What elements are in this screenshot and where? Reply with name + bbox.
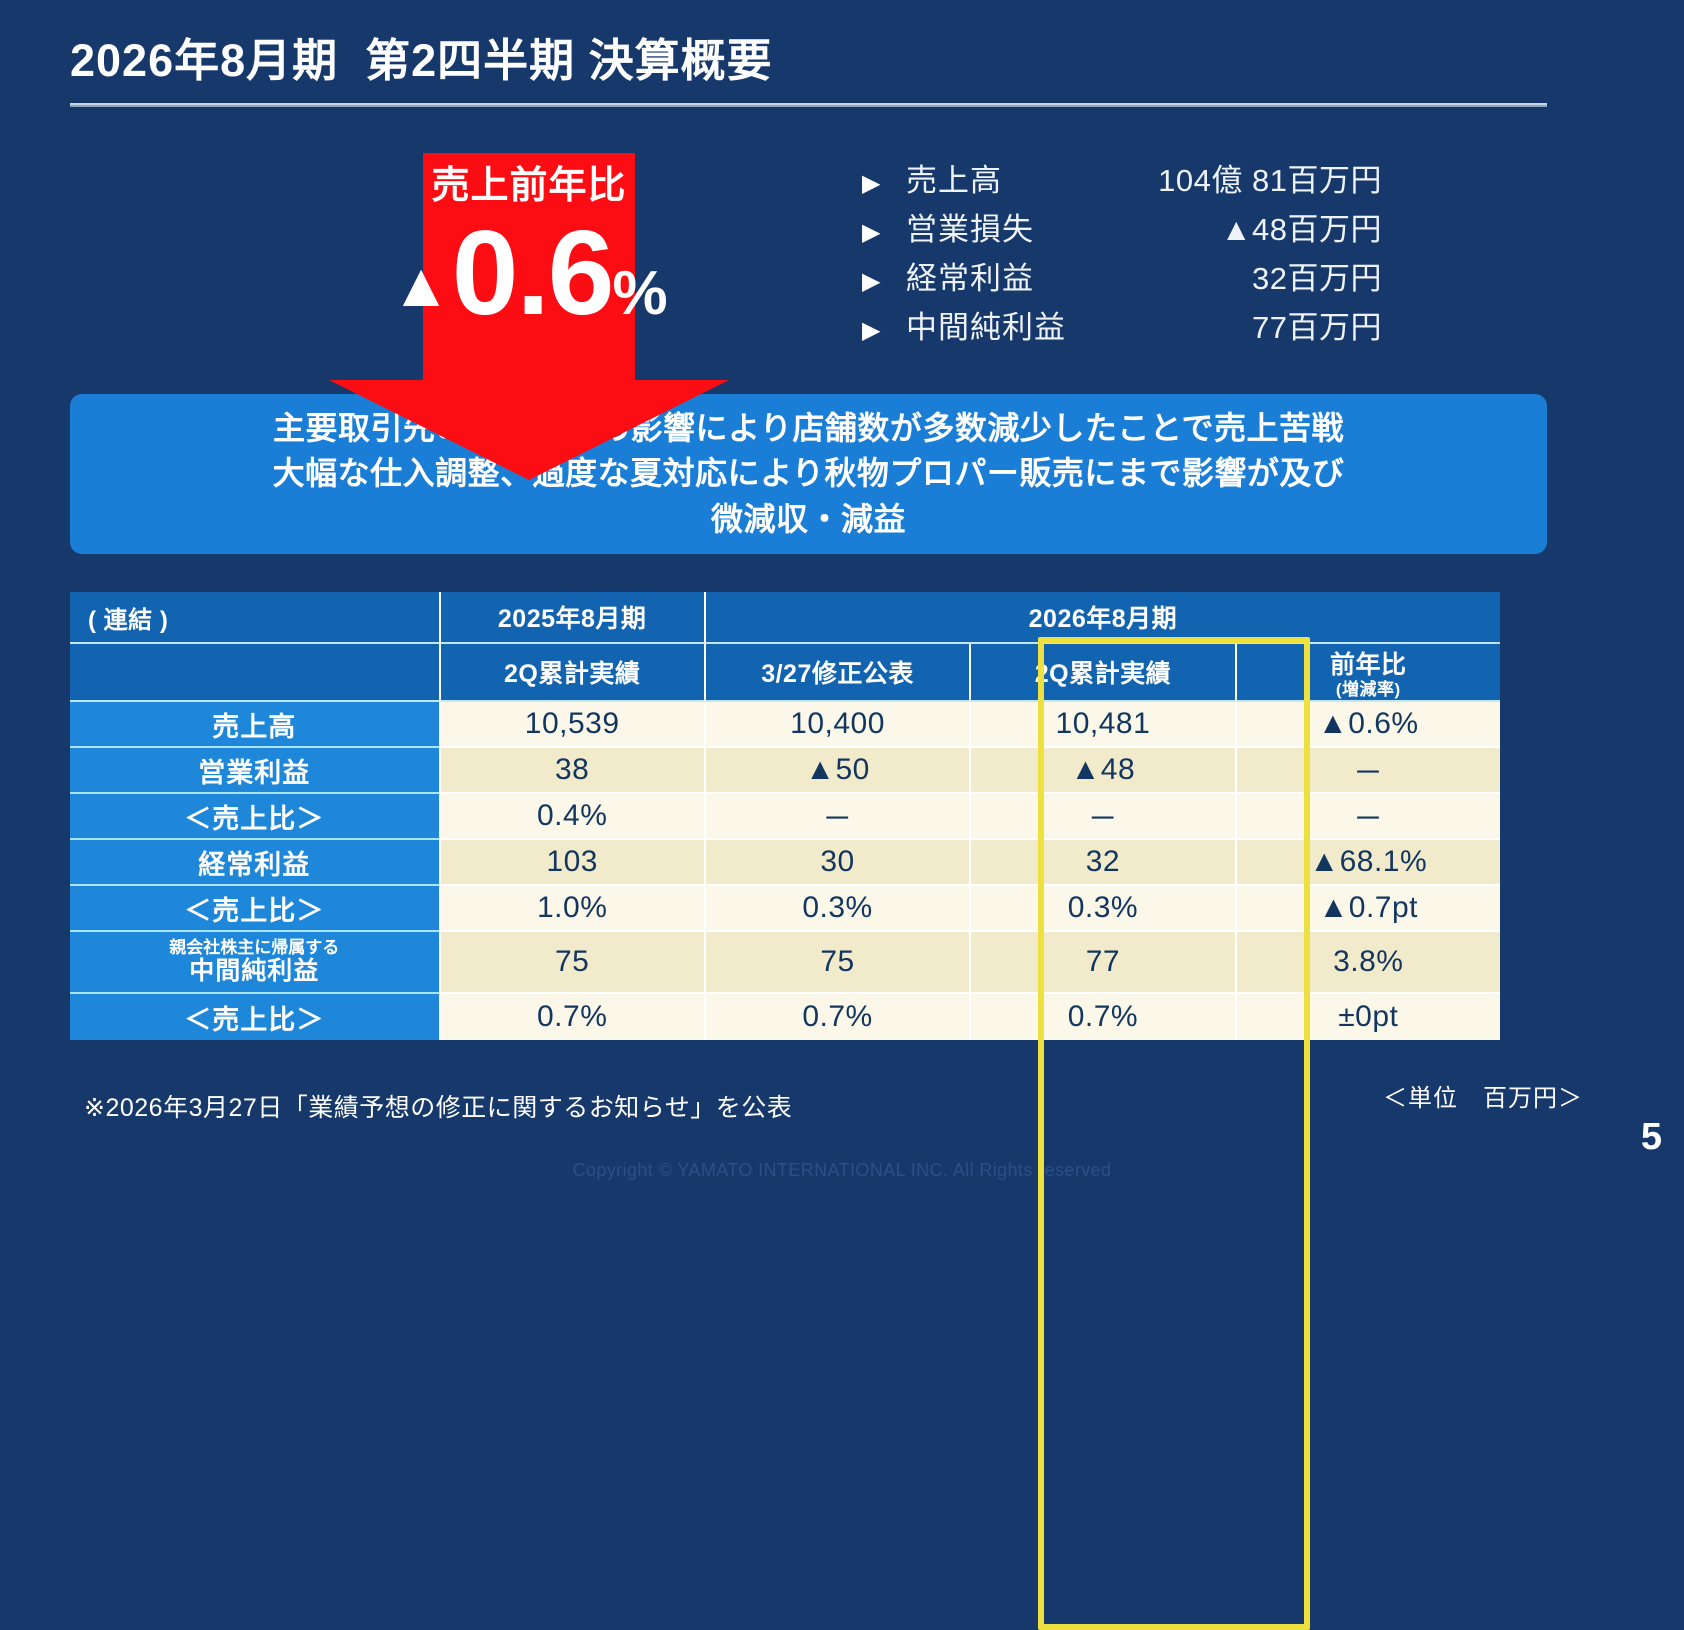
cell-value: － bbox=[1235, 794, 1500, 840]
cell-value: 32 bbox=[969, 840, 1234, 886]
table-subheader-row: 2Q累計実績 3/27修正公表 2Q累計実績 前年比 (増減率) bbox=[70, 644, 1500, 702]
cell-value: ▲0.7pt bbox=[1235, 886, 1500, 932]
message-line: 微減収・減益 bbox=[711, 497, 906, 542]
triangle-right-icon: ▶ bbox=[862, 270, 906, 294]
cell-value: 0.7% bbox=[704, 994, 969, 1040]
cell-value: － bbox=[1235, 748, 1500, 794]
table-row: 経常利益 103 30 32 ▲68.1% bbox=[70, 840, 1500, 886]
row-label-ordinary-margin: ＜売上比＞ bbox=[70, 886, 439, 932]
row-label-net-income: 親会社株主に帰属する 中間純利益 bbox=[70, 932, 439, 994]
unit-note: ＜単位 百万円＞ bbox=[1383, 1078, 1583, 1113]
arrow-badge-value: ▲ 0.6 % bbox=[347, 213, 711, 333]
triangle-right-icon: ▶ bbox=[862, 319, 906, 343]
title-block: 2026年8月期 第2四半期 決算概要 bbox=[70, 36, 1615, 107]
cell-value: 1.0% bbox=[439, 886, 704, 932]
highlight-label: 売上高 bbox=[906, 155, 1106, 200]
list-item: ▶ 経常利益 32百万円 bbox=[862, 253, 1382, 302]
cell-value: － bbox=[704, 794, 969, 840]
cell-value: 103 bbox=[439, 840, 704, 886]
cell-value: 10,539 bbox=[439, 702, 704, 748]
subheader-blank bbox=[70, 644, 439, 702]
cell-value: 3.8% bbox=[1235, 932, 1500, 994]
highlight-value: 77百万円 bbox=[1106, 302, 1382, 347]
title-divider bbox=[70, 103, 1547, 107]
cell-value: 77 bbox=[969, 932, 1234, 994]
cell-value: 0.3% bbox=[704, 886, 969, 932]
highlight-label: 経常利益 bbox=[906, 253, 1106, 298]
arrow-badge-label: 売上前年比 bbox=[431, 165, 626, 209]
cell-value: 0.7% bbox=[969, 994, 1234, 1040]
subheader-yoy-main: 前年比 bbox=[1330, 651, 1407, 679]
cell-value: 0.7% bbox=[439, 994, 704, 1040]
group-header-fy2025: 2025年8月期 bbox=[439, 592, 704, 644]
subheader-revised-forecast: 3/27修正公表 bbox=[704, 644, 969, 702]
row-label-operating-income: 営業利益 bbox=[70, 748, 439, 794]
table-row: 営業利益 38 ▲50 ▲48 － bbox=[70, 748, 1500, 794]
table-header-row-group: ( 連結 ) 2025年8月期 2026年8月期 bbox=[70, 592, 1500, 644]
arrow-badge-number: 0.6 bbox=[452, 213, 613, 333]
row-label-net-income-note: 親会社株主に帰属する bbox=[70, 938, 439, 958]
highlight-value: ▲48百万円 bbox=[1106, 204, 1382, 249]
table-row: 親会社株主に帰属する 中間純利益 75 75 77 3.8% bbox=[70, 932, 1500, 994]
summary-message-box: 主要取引先の構造改革の影響により店舗数が多数減少したことで売上苦戦 大幅な仕入調… bbox=[70, 394, 1547, 554]
list-item: ▶ 営業損失 ▲48百万円 bbox=[862, 204, 1382, 253]
down-triangle-icon: ▲ bbox=[390, 255, 451, 317]
triangle-right-icon: ▶ bbox=[862, 221, 906, 245]
arrow-head-shape bbox=[329, 380, 729, 480]
highlight-label: 営業損失 bbox=[906, 204, 1106, 249]
copyright-notice: Copyright © YAMATO INTERNATIONAL INC. Al… bbox=[0, 1160, 1684, 1181]
highlight-value: 104億 81百万円 bbox=[1106, 155, 1382, 200]
row-label-net-income-main: 中間純利益 bbox=[70, 957, 439, 986]
table-row: ＜売上比＞ 1.0% 0.3% 0.3% ▲0.7pt bbox=[70, 886, 1500, 932]
arrow-badge-percent: % bbox=[613, 263, 668, 325]
cell-value: ▲48 bbox=[969, 748, 1234, 794]
highlight-list: ▶ 売上高 104億 81百万円 ▶ 営業損失 ▲48百万円 ▶ 経常利益 32… bbox=[862, 155, 1382, 351]
cell-value: 0.4% bbox=[439, 794, 704, 840]
cell-value: 30 bbox=[704, 840, 969, 886]
subheader-2q-actual-current: 2Q累計実績 bbox=[969, 644, 1234, 702]
cell-value: － bbox=[969, 794, 1234, 840]
row-label-operating-margin: ＜売上比＞ bbox=[70, 794, 439, 840]
subheader-yoy-sub: (増減率) bbox=[1237, 681, 1500, 700]
list-item: ▶ 中間純利益 77百万円 bbox=[862, 302, 1382, 351]
subheader-yoy: 前年比 (増減率) bbox=[1235, 644, 1500, 702]
table-row: 売上高 10,539 10,400 10,481 ▲0.6% bbox=[70, 702, 1500, 748]
cell-value: ±0pt bbox=[1235, 994, 1500, 1040]
cell-value: ▲0.6% bbox=[1235, 702, 1500, 748]
cell-value: 38 bbox=[439, 748, 704, 794]
cell-value: 10,400 bbox=[704, 702, 969, 748]
cell-value: ▲68.1% bbox=[1235, 840, 1500, 886]
triangle-right-icon: ▶ bbox=[862, 172, 906, 196]
row-label-net-sales: 売上高 bbox=[70, 702, 439, 748]
list-item: ▶ 売上高 104億 81百万円 bbox=[862, 155, 1382, 204]
row-label-net-margin: ＜売上比＞ bbox=[70, 994, 439, 1040]
cell-value: 75 bbox=[439, 932, 704, 994]
table-corner-label: ( 連結 ) bbox=[70, 592, 439, 644]
cell-value: 0.3% bbox=[969, 886, 1234, 932]
financial-results-table: ( 連結 ) 2025年8月期 2026年8月期 2Q累計実績 3/27修正公表… bbox=[70, 592, 1500, 1040]
footnote: ※2026年3月27日「業績予想の修正に関するお知らせ」を公表 bbox=[84, 1088, 792, 1124]
results-table: ( 連結 ) 2025年8月期 2026年8月期 2Q累計実績 3/27修正公表… bbox=[70, 592, 1500, 1040]
highlight-value: 32百万円 bbox=[1106, 253, 1382, 298]
table-row: ＜売上比＞ 0.7% 0.7% 0.7% ±0pt bbox=[70, 994, 1500, 1040]
cell-value: ▲50 bbox=[704, 748, 969, 794]
cell-value: 10,481 bbox=[969, 702, 1234, 748]
subheader-2q-actual-prev: 2Q累計実績 bbox=[439, 644, 704, 702]
table-row: ＜売上比＞ 0.4% － － － bbox=[70, 794, 1500, 840]
page-number: 5 bbox=[1641, 1116, 1662, 1159]
highlight-label: 中間純利益 bbox=[906, 302, 1106, 347]
page-title: 2026年8月期 第2四半期 決算概要 bbox=[70, 36, 1615, 86]
sales-yoy-arrow-badge: 売上前年比 ▲ 0.6 % bbox=[423, 153, 635, 380]
row-label-ordinary-income: 経常利益 bbox=[70, 840, 439, 886]
cell-value: 75 bbox=[704, 932, 969, 994]
group-header-fy2026: 2026年8月期 bbox=[704, 592, 1500, 644]
